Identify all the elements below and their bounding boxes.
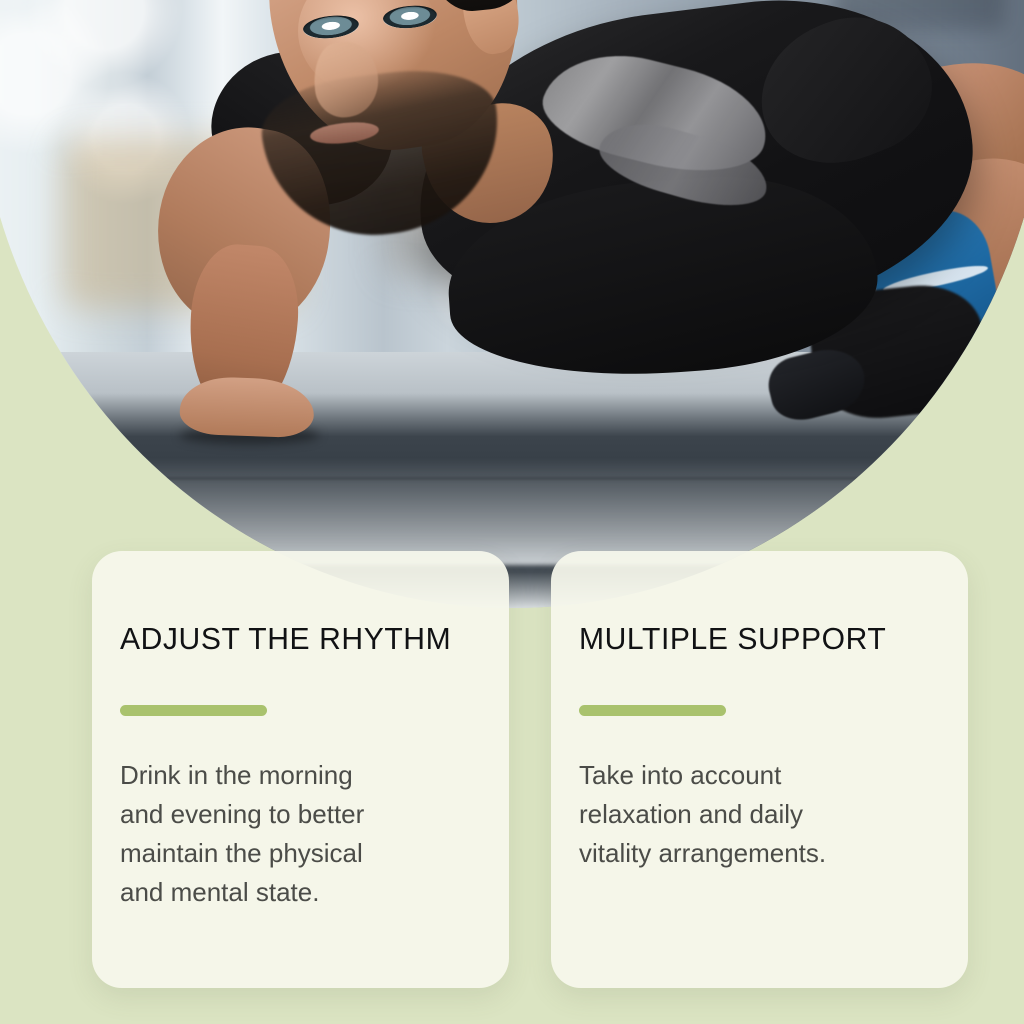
card-multiple-support[interactable]: MULTIPLE SUPPORT Take into account relax… — [551, 551, 968, 988]
card-body: Drink in the morning and evening to bett… — [120, 756, 450, 912]
accent-bar — [579, 705, 726, 716]
card-adjust-the-rhythm[interactable]: ADJUST THE RHYTHM Drink in the morning a… — [92, 551, 509, 988]
card-title: ADJUST THE RHYTHM — [120, 623, 497, 656]
card-title: MULTIPLE SUPPORT — [579, 623, 956, 656]
poster-canvas: ADJUST THE RHYTHM Drink in the morning a… — [0, 0, 1024, 1024]
card-body: Take into account relaxation and daily v… — [579, 756, 909, 873]
accent-bar — [120, 705, 267, 716]
info-cards: ADJUST THE RHYTHM Drink in the morning a… — [0, 0, 1024, 1024]
